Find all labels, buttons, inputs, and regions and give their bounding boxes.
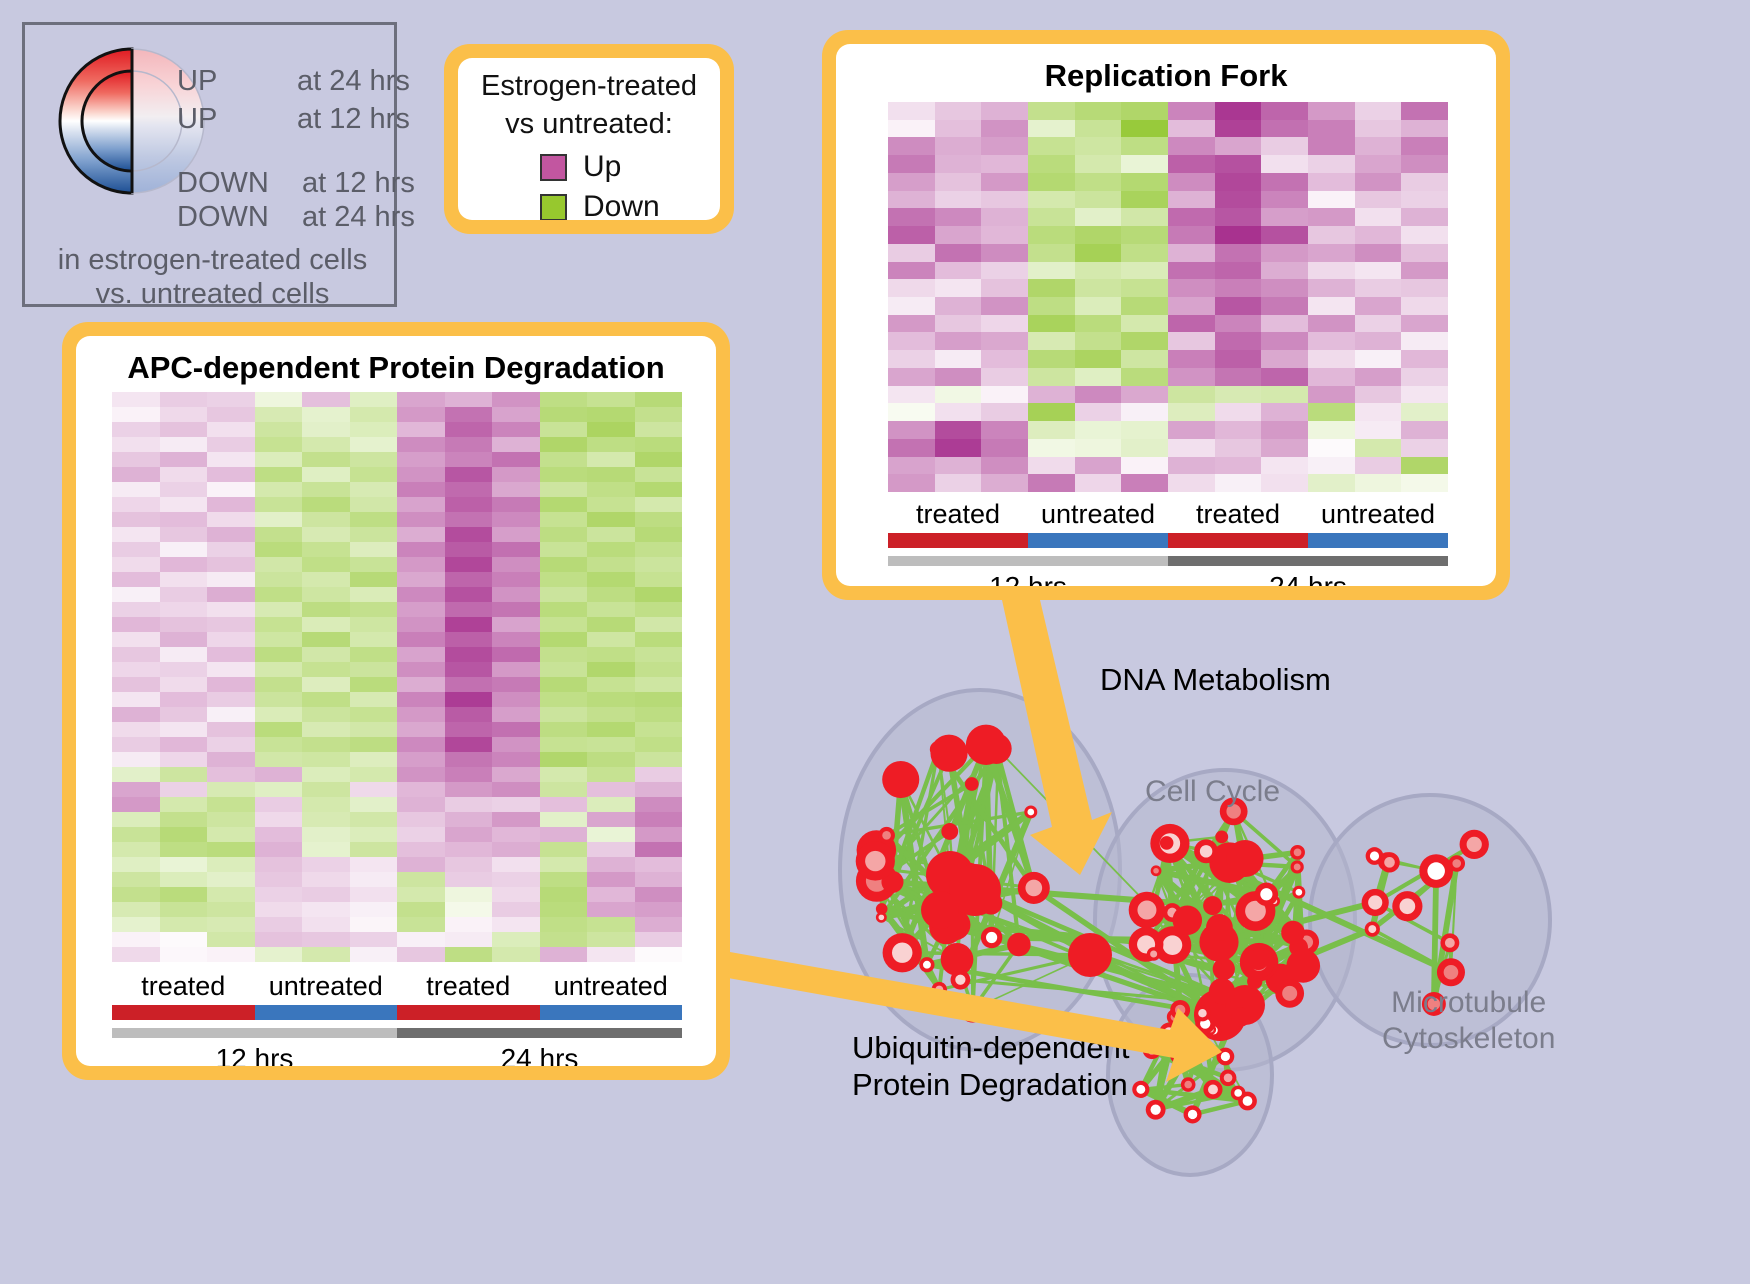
heatmap-cell xyxy=(1028,368,1075,386)
heatmap-cell xyxy=(397,677,445,692)
heatmap-cell xyxy=(445,467,493,482)
heatmap-cell xyxy=(207,872,255,887)
heatmap-cell xyxy=(1215,421,1262,439)
heatmap-cell xyxy=(492,872,540,887)
heatmap-cell xyxy=(492,422,540,437)
heatmap-cell xyxy=(1075,226,1122,244)
heatmap-cell xyxy=(112,782,160,797)
heatmap-cell xyxy=(302,872,350,887)
heatmap-cell xyxy=(1308,457,1355,475)
network-node-core xyxy=(1295,889,1302,896)
network-node[interactable] xyxy=(1231,1007,1250,1026)
heatmap-cell xyxy=(350,407,398,422)
network-node[interactable] xyxy=(965,777,979,791)
legend-row-up-12-time: at 12 hrs xyxy=(297,103,410,136)
heatmap-cell xyxy=(540,902,588,917)
heatmap-cell xyxy=(1028,297,1075,315)
heatmap-cell xyxy=(1308,244,1355,262)
legend-row-down-24-state: DOWN xyxy=(177,201,269,234)
heatmap-cell xyxy=(207,647,255,662)
heatmap-cell xyxy=(207,662,255,677)
heatmap-cell xyxy=(1401,120,1448,138)
heatmap-cell xyxy=(302,827,350,842)
heatmap-cell xyxy=(302,812,350,827)
heatmap-cell xyxy=(492,842,540,857)
heatmap-cell xyxy=(635,452,683,467)
heatmap-cell xyxy=(397,917,445,932)
heatmap-cell xyxy=(540,782,588,797)
heatmap-cell xyxy=(981,368,1028,386)
replication-fork-time-labels: 12 hrs24 hrs xyxy=(888,571,1448,586)
heatmap-cell xyxy=(492,797,540,812)
heatmap-cell xyxy=(445,527,493,542)
heatmap-cell xyxy=(1215,368,1262,386)
heatmap-cell xyxy=(397,782,445,797)
heatmap-cell xyxy=(112,707,160,722)
heatmap-cell xyxy=(935,439,982,457)
heatmap-cell xyxy=(1308,403,1355,421)
legend-row-down-24-time: at 24 hrs xyxy=(302,201,415,234)
network-node[interactable] xyxy=(1215,830,1228,843)
heatmap-cell xyxy=(445,692,493,707)
heatmap-cell xyxy=(1215,262,1262,280)
heatmap-cell xyxy=(540,947,588,962)
heatmap-cell xyxy=(112,662,160,677)
heatmap-cell xyxy=(540,887,588,902)
heatmap-cell xyxy=(160,452,208,467)
heatmap-cell xyxy=(981,120,1028,138)
heatmap-cell xyxy=(397,542,445,557)
network-node-core xyxy=(986,932,997,943)
heatmap-cell xyxy=(492,932,540,947)
heatmap-cell xyxy=(1028,457,1075,475)
cluster-label-microtubule-cytoskeleton: Microtubule Cytoskeleton xyxy=(1382,985,1555,1057)
heatmap-cell xyxy=(1401,262,1448,280)
heatmap-cell xyxy=(888,279,935,297)
heatmap-cell xyxy=(1261,191,1308,209)
heatmap-cell xyxy=(207,947,255,962)
heatmap-cell xyxy=(302,587,350,602)
heatmap-cell xyxy=(540,857,588,872)
network-node[interactable] xyxy=(1160,836,1174,850)
heatmap-cell xyxy=(255,887,303,902)
heatmap-cell xyxy=(540,587,588,602)
heatmap-cell xyxy=(112,797,160,812)
network-node-core xyxy=(1221,1052,1230,1061)
heatmap-cell xyxy=(981,244,1028,262)
legend-caption: in estrogen-treated cells vs. untreated … xyxy=(25,243,400,311)
heatmap-cell xyxy=(587,617,635,632)
condition-label: untreated xyxy=(540,971,683,1002)
network-node-core xyxy=(1184,1081,1192,1089)
heatmap-cell xyxy=(587,947,635,962)
heatmap-cell xyxy=(255,692,303,707)
heatmap-cell xyxy=(981,439,1028,457)
heatmap-cell xyxy=(397,587,445,602)
heatmap-cell xyxy=(635,767,683,782)
heatmap-cell xyxy=(635,437,683,452)
heatmap-cell xyxy=(255,632,303,647)
heatmap-cell xyxy=(160,947,208,962)
heatmap-cell xyxy=(160,392,208,407)
condition-label: treated xyxy=(397,971,540,1002)
heatmap-cell xyxy=(207,557,255,572)
heatmap-cell xyxy=(112,842,160,857)
heatmap-cell xyxy=(540,647,588,662)
heatmap-cell xyxy=(160,857,208,872)
network-node-core xyxy=(1188,1110,1197,1119)
heatmap-cell xyxy=(1168,439,1215,457)
heatmap-cell xyxy=(1215,474,1262,492)
network-node[interactable] xyxy=(1007,933,1031,957)
heatmap-cell xyxy=(1168,350,1215,368)
heatmap-cell xyxy=(160,737,208,752)
heatmap-cell xyxy=(397,407,445,422)
network-node-core xyxy=(1027,809,1034,816)
heatmap-cell xyxy=(492,602,540,617)
heatmap-cell xyxy=(397,557,445,572)
heatmap-cell xyxy=(160,467,208,482)
heatmap-cell xyxy=(587,572,635,587)
heatmap-cell xyxy=(1168,173,1215,191)
heatmap-cell xyxy=(112,512,160,527)
network-node[interactable] xyxy=(921,891,959,929)
network-node-core xyxy=(1400,898,1416,914)
heatmap-cell xyxy=(1121,332,1168,350)
heatmap-cell xyxy=(587,647,635,662)
heatmap-cell xyxy=(160,632,208,647)
heatmap-cell xyxy=(888,226,935,244)
heatmap-cell xyxy=(302,572,350,587)
heatmap-cell xyxy=(492,812,540,827)
heatmap-cell xyxy=(1261,279,1308,297)
heatmap-cell xyxy=(935,368,982,386)
heatmap-cell xyxy=(1168,279,1215,297)
heatmap-cell xyxy=(587,467,635,482)
heatmap-cell xyxy=(160,617,208,632)
estrogen-legend-inner: Estrogen-treated vs untreated: Up Down xyxy=(458,58,720,220)
network-node-core xyxy=(955,975,965,985)
heatmap-cell xyxy=(492,767,540,782)
heatmap-cell xyxy=(1308,208,1355,226)
heatmap-cell xyxy=(1355,474,1402,492)
heatmap-cell xyxy=(981,421,1028,439)
network-node-core xyxy=(1452,859,1461,868)
heatmap-cell xyxy=(492,752,540,767)
heatmap-cell xyxy=(255,407,303,422)
heatmap-cell xyxy=(981,102,1028,120)
heatmap-cell xyxy=(587,692,635,707)
heatmap-cell xyxy=(445,842,493,857)
heatmap-cell xyxy=(888,421,935,439)
heatmap-cell xyxy=(540,572,588,587)
heatmap-cell xyxy=(350,887,398,902)
network-node[interactable] xyxy=(1286,949,1320,983)
heatmap-cell xyxy=(492,707,540,722)
heatmap-cell xyxy=(1261,155,1308,173)
network-node[interactable] xyxy=(876,903,888,915)
heatmap-cell xyxy=(1121,244,1168,262)
heatmap-cell xyxy=(981,297,1028,315)
heatmap-cell xyxy=(302,902,350,917)
heatmap-cell xyxy=(935,244,982,262)
heatmap-cell xyxy=(160,917,208,932)
heatmap-cell xyxy=(160,677,208,692)
heatmap-cell xyxy=(112,647,160,662)
heatmap-cell xyxy=(112,392,160,407)
heatmap-cell xyxy=(1401,297,1448,315)
network-node-core xyxy=(1467,837,1482,852)
heatmap-cell xyxy=(1121,421,1168,439)
heatmap-cell xyxy=(888,208,935,226)
heatmap-cell xyxy=(587,527,635,542)
heatmap-cell xyxy=(160,692,208,707)
heatmap-cell xyxy=(1075,297,1122,315)
heatmap-cell xyxy=(445,647,493,662)
heatmap-cell xyxy=(445,587,493,602)
heatmap-cell xyxy=(1168,368,1215,386)
heatmap-cell xyxy=(540,557,588,572)
heatmap-cell xyxy=(397,392,445,407)
heatmap-cell xyxy=(207,932,255,947)
network-node[interactable] xyxy=(1173,905,1203,935)
heatmap-cell xyxy=(1215,137,1262,155)
cluster-label-cell-cycle: Cell Cycle xyxy=(1145,775,1280,809)
heatmap-cell xyxy=(255,917,303,932)
heatmap-cell xyxy=(540,617,588,632)
heatmap-cell xyxy=(1168,297,1215,315)
heatmap-cell xyxy=(160,902,208,917)
heatmap-cell xyxy=(350,647,398,662)
heatmap-cell xyxy=(445,932,493,947)
heatmap-cell xyxy=(540,512,588,527)
heatmap-cell xyxy=(1215,191,1262,209)
network-node-core xyxy=(1370,851,1379,860)
heatmap-cell xyxy=(397,437,445,452)
heatmap-cell xyxy=(1215,279,1262,297)
heatmap-cell xyxy=(445,452,493,467)
heatmap-cell xyxy=(1401,244,1448,262)
network-node[interactable] xyxy=(959,996,986,1023)
network-node-core xyxy=(892,943,912,963)
network-node-core xyxy=(1294,849,1302,857)
heatmap-cell xyxy=(1075,315,1122,333)
heatmap-cell xyxy=(1355,457,1402,475)
heatmap-cell xyxy=(635,797,683,812)
apc-condition-labels: treateduntreatedtreateduntreated xyxy=(112,971,682,1002)
network-node[interactable] xyxy=(1213,958,1235,980)
heatmap-cell xyxy=(207,542,255,557)
heatmap-cell xyxy=(981,403,1028,421)
heatmap-cell xyxy=(397,632,445,647)
legend-item-up-label: Up xyxy=(583,152,621,182)
network-node-core xyxy=(1150,950,1157,957)
heatmap-cell xyxy=(492,632,540,647)
heatmap-cell xyxy=(1075,208,1122,226)
heatmap-cell xyxy=(1355,350,1402,368)
heatmap-cell xyxy=(255,527,303,542)
network-node[interactable] xyxy=(930,741,947,758)
heatmap-cell xyxy=(1215,226,1262,244)
heatmap-cell xyxy=(207,722,255,737)
heatmap-cell xyxy=(445,572,493,587)
heatmap-cell xyxy=(255,557,303,572)
heatmap-cell xyxy=(1075,173,1122,191)
up-color-swatch-icon xyxy=(540,154,567,181)
heatmap-cell xyxy=(255,542,303,557)
time-color-bar-0 xyxy=(112,1028,397,1038)
heatmap-cell xyxy=(397,497,445,512)
heatmap-cell xyxy=(1215,155,1262,173)
network-node-core xyxy=(1137,901,1156,920)
heatmap-cell xyxy=(492,917,540,932)
network-node[interactable] xyxy=(1209,978,1235,1004)
heatmap-cell xyxy=(112,452,160,467)
heatmap-cell xyxy=(587,887,635,902)
network-node[interactable] xyxy=(1068,933,1112,977)
heatmap-cell xyxy=(302,737,350,752)
network-node[interactable] xyxy=(882,761,919,798)
heatmap-cell xyxy=(492,947,540,962)
heatmap-cell xyxy=(255,947,303,962)
heatmap-cell xyxy=(160,572,208,587)
heatmap-cell xyxy=(981,191,1028,209)
heatmap-cell xyxy=(302,602,350,617)
heatmap-cell xyxy=(1168,457,1215,475)
heatmap-cell xyxy=(302,932,350,947)
heatmap-cell xyxy=(207,407,255,422)
heatmap-cell xyxy=(445,812,493,827)
legend-row-up-24-state: UP xyxy=(177,65,217,98)
heatmap-cell xyxy=(1355,173,1402,191)
heatmap-cell xyxy=(888,137,935,155)
legend-caption-line2: vs. untreated cells xyxy=(25,277,400,311)
heatmap-cell xyxy=(350,752,398,767)
heatmap-cell xyxy=(302,752,350,767)
heatmap-cell xyxy=(1121,350,1168,368)
heatmap-cell xyxy=(1215,244,1262,262)
heatmap-cell xyxy=(397,662,445,677)
heatmap-cell xyxy=(255,392,303,407)
time-label: 24 hrs xyxy=(397,1043,682,1066)
heatmap-cell xyxy=(207,572,255,587)
heatmap-cell xyxy=(255,932,303,947)
heatmap-cell xyxy=(1121,297,1168,315)
heatmap-cell xyxy=(935,208,982,226)
heatmap-cell xyxy=(587,632,635,647)
heatmap-cell xyxy=(255,842,303,857)
heatmap-cell xyxy=(1168,191,1215,209)
heatmap-cell xyxy=(1215,386,1262,404)
legend-key-box: UP at 24 hrs UP at 12 hrs DOWN at 12 hrs… xyxy=(22,22,397,307)
heatmap-cell xyxy=(540,677,588,692)
heatmap-cell xyxy=(160,752,208,767)
heatmap-cell xyxy=(1261,120,1308,138)
network-node[interactable] xyxy=(1281,921,1305,945)
heatmap-cell xyxy=(255,647,303,662)
condition-color-bar-untreated xyxy=(540,1005,683,1020)
heatmap-cell xyxy=(492,662,540,677)
network-node[interactable] xyxy=(1248,949,1269,970)
heatmap-cell xyxy=(255,662,303,677)
heatmap-cell xyxy=(587,497,635,512)
heatmap-cell xyxy=(445,767,493,782)
heatmap-cell xyxy=(1401,457,1448,475)
heatmap-cell xyxy=(540,437,588,452)
heatmap-cell xyxy=(1028,208,1075,226)
heatmap-cell xyxy=(1401,350,1448,368)
heatmap-cell xyxy=(207,527,255,542)
heatmap-cell xyxy=(587,842,635,857)
heatmap-cell xyxy=(302,467,350,482)
heatmap-cell xyxy=(492,497,540,512)
heatmap-cell xyxy=(302,437,350,452)
heatmap-cell xyxy=(587,752,635,767)
network-node[interactable] xyxy=(941,823,958,840)
heatmap-cell xyxy=(255,497,303,512)
heatmap-cell xyxy=(1028,262,1075,280)
heatmap-cell xyxy=(492,437,540,452)
heatmap-cell xyxy=(1261,403,1308,421)
heatmap-cell xyxy=(255,437,303,452)
heatmap-cell xyxy=(935,155,982,173)
heatmap-cell xyxy=(1028,386,1075,404)
heatmap-cell xyxy=(981,155,1028,173)
network-node[interactable] xyxy=(1206,914,1233,941)
heatmap-cell xyxy=(350,722,398,737)
heatmap-cell xyxy=(587,737,635,752)
figure-stage: UP at 24 hrs UP at 12 hrs DOWN at 12 hrs… xyxy=(0,0,1750,1279)
network-node[interactable] xyxy=(1203,896,1222,915)
heatmap-cell xyxy=(635,782,683,797)
heatmap-cell xyxy=(112,902,160,917)
heatmap-cell xyxy=(112,437,160,452)
heatmap-cell xyxy=(888,173,935,191)
heatmap-cell xyxy=(1168,137,1215,155)
heatmap-cell xyxy=(397,827,445,842)
heatmap-cell xyxy=(302,497,350,512)
network-node[interactable] xyxy=(966,725,1006,765)
heatmap-cell xyxy=(492,782,540,797)
heatmap-cell xyxy=(302,722,350,737)
heatmap-cell xyxy=(1075,155,1122,173)
apc-degradation-inner: APC-dependent Protein Degradation treate… xyxy=(76,336,716,1066)
heatmap-cell xyxy=(492,527,540,542)
legend-row-down-12-state: DOWN xyxy=(177,167,269,200)
heatmap-cell xyxy=(397,737,445,752)
heatmap-cell xyxy=(1121,208,1168,226)
heatmap-cell xyxy=(160,542,208,557)
heatmap-cell xyxy=(1261,439,1308,457)
heatmap-cell xyxy=(635,572,683,587)
heatmap-cell xyxy=(112,542,160,557)
heatmap-cell xyxy=(207,902,255,917)
heatmap-cell xyxy=(1121,439,1168,457)
heatmap-cell xyxy=(160,707,208,722)
heatmap-cell xyxy=(1355,208,1402,226)
heatmap-cell xyxy=(160,587,208,602)
heatmap-cell xyxy=(1215,403,1262,421)
heatmap-cell xyxy=(540,932,588,947)
heatmap-cell xyxy=(587,677,635,692)
condition-label: untreated xyxy=(1028,499,1168,530)
network-node[interactable] xyxy=(1227,840,1264,877)
heatmap-cell xyxy=(1075,403,1122,421)
heatmap-cell xyxy=(112,587,160,602)
heatmap-cell xyxy=(112,617,160,632)
heatmap-cell xyxy=(397,707,445,722)
heatmap-cell xyxy=(540,722,588,737)
